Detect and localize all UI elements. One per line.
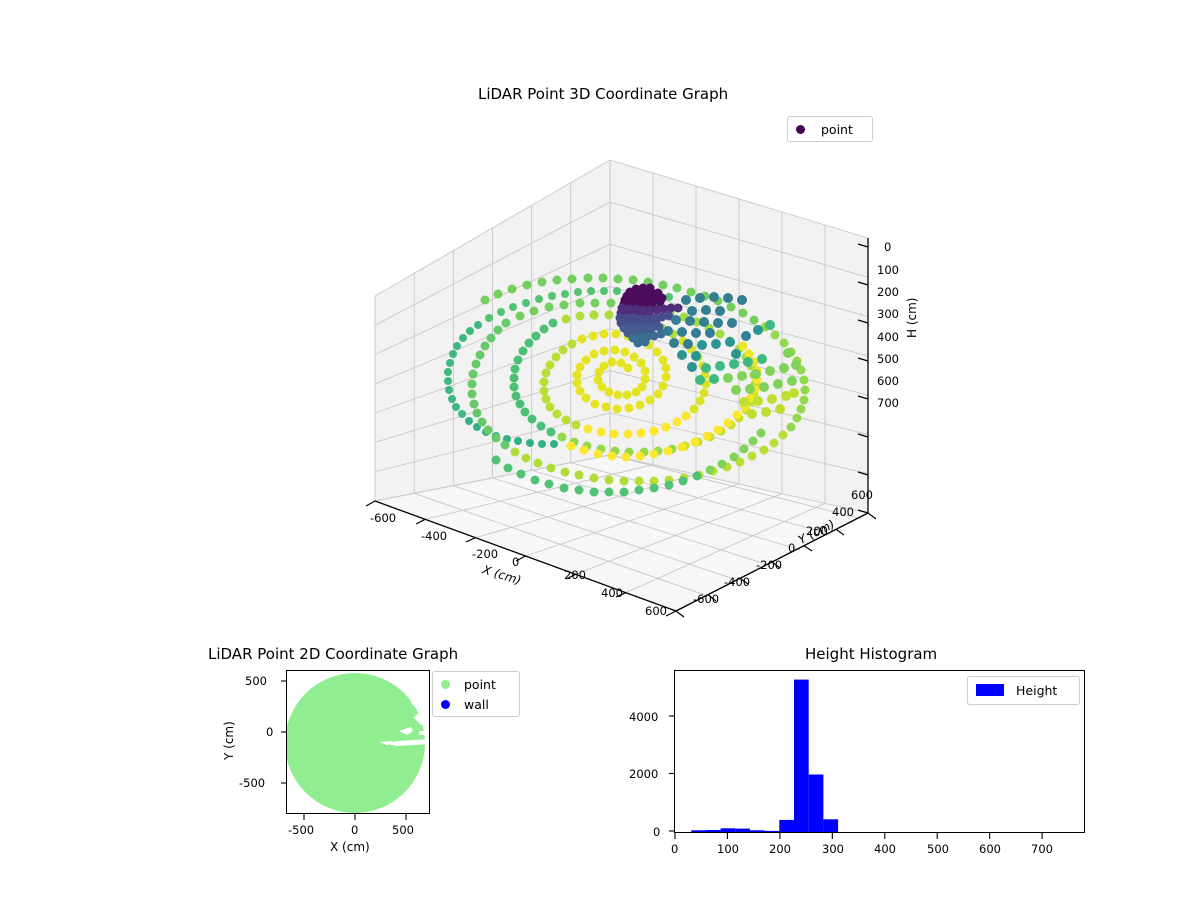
y3d-tick-0: 0	[788, 541, 795, 555]
lidar-2d-yticks	[278, 670, 288, 816]
y2d-axis-label: Y (cm)	[222, 721, 236, 760]
histogram-xticks	[674, 832, 1087, 842]
z3d-tick-100: 100	[877, 263, 899, 277]
hist-xtick-0: 0	[671, 842, 678, 856]
z3d-tick-600: 600	[877, 374, 899, 388]
x2d-tick-500: 500	[392, 823, 414, 837]
hist-ytick-2000: 2000	[629, 767, 658, 781]
lidar-2d-legend[interactable]: point wall	[432, 671, 520, 717]
x2d-tick-0: 0	[351, 823, 358, 837]
z3d-tick-200: 200	[877, 285, 899, 299]
z3d-tick-300: 300	[877, 307, 899, 321]
hist-xtick-400: 400	[874, 842, 896, 856]
figure-canvas: LiDAR Point 3D Coordinate Graph point	[0, 0, 1200, 900]
lidar-2d-panel: LiDAR Point 2D Coordinate Graph	[0, 630, 600, 900]
hist-ytick-0: 0	[653, 825, 660, 839]
legend-item-height: Height	[976, 680, 1079, 700]
z3d-tick-400: 400	[877, 330, 899, 344]
legend-marker-wall-icon	[441, 700, 450, 709]
hist-ytick-4000: 4000	[629, 710, 658, 724]
y2d-tick-500: 500	[245, 674, 267, 688]
lidar-2d-xticks	[286, 813, 432, 823]
z3d-axis-label: H (cm)	[905, 298, 919, 339]
hist-xtick-300: 300	[822, 842, 844, 856]
lidar-3d-axes	[0, 0, 1200, 630]
z3d-tick-0: 0	[884, 240, 891, 254]
lidar-3d-panel: LiDAR Point 3D Coordinate Graph point	[0, 0, 1200, 630]
lidar-2d-title: LiDAR Point 2D Coordinate Graph	[208, 645, 458, 663]
y3d-tick-400: 400	[832, 505, 854, 519]
lidar-2d-points	[287, 671, 429, 813]
x2d-axis-label: X (cm)	[330, 840, 370, 854]
height-histogram-panel: Height Histogram	[600, 630, 1200, 900]
x3d-tick--200: -200	[472, 547, 498, 561]
legend-item-point: point	[441, 674, 519, 694]
legend-label-point: point	[464, 677, 496, 692]
z3d-tick-700: 700	[877, 396, 899, 410]
hist-xtick-600: 600	[979, 842, 1001, 856]
lidar-2d-axes	[286, 670, 430, 814]
x3d-tick--400: -400	[421, 529, 447, 543]
legend-label-height: Height	[1016, 683, 1057, 698]
x3d-tick-200: 200	[564, 568, 586, 582]
y2d-tick--500: -500	[239, 776, 265, 790]
z3d-tick-500: 500	[877, 352, 899, 366]
x3d-tick-0: 0	[512, 555, 519, 569]
hist-xtick-700: 700	[1031, 842, 1053, 856]
y2d-tick-0: 0	[266, 725, 273, 739]
y3d-tick--200: -200	[756, 558, 782, 572]
x3d-tick--600: -600	[370, 511, 396, 525]
y3d-tick--600: -600	[693, 592, 719, 606]
legend-label-wall: wall	[464, 697, 489, 712]
hist-xtick-200: 200	[769, 842, 791, 856]
legend-marker-point-icon	[441, 680, 450, 689]
y3d-tick-600: 600	[851, 488, 873, 502]
histogram-yticks	[666, 670, 676, 835]
hist-xtick-100: 100	[717, 842, 739, 856]
hist-xtick-500: 500	[927, 842, 949, 856]
x2d-tick--500: -500	[288, 823, 314, 837]
legend-item-wall: wall	[441, 694, 519, 714]
histogram-legend[interactable]: Height	[967, 676, 1080, 705]
y3d-tick--400: -400	[724, 575, 750, 589]
x3d-tick-400: 400	[601, 586, 623, 600]
x3d-tick-600: 600	[645, 604, 667, 618]
legend-patch-height-icon	[976, 684, 1004, 696]
histogram-title: Height Histogram	[805, 645, 937, 663]
